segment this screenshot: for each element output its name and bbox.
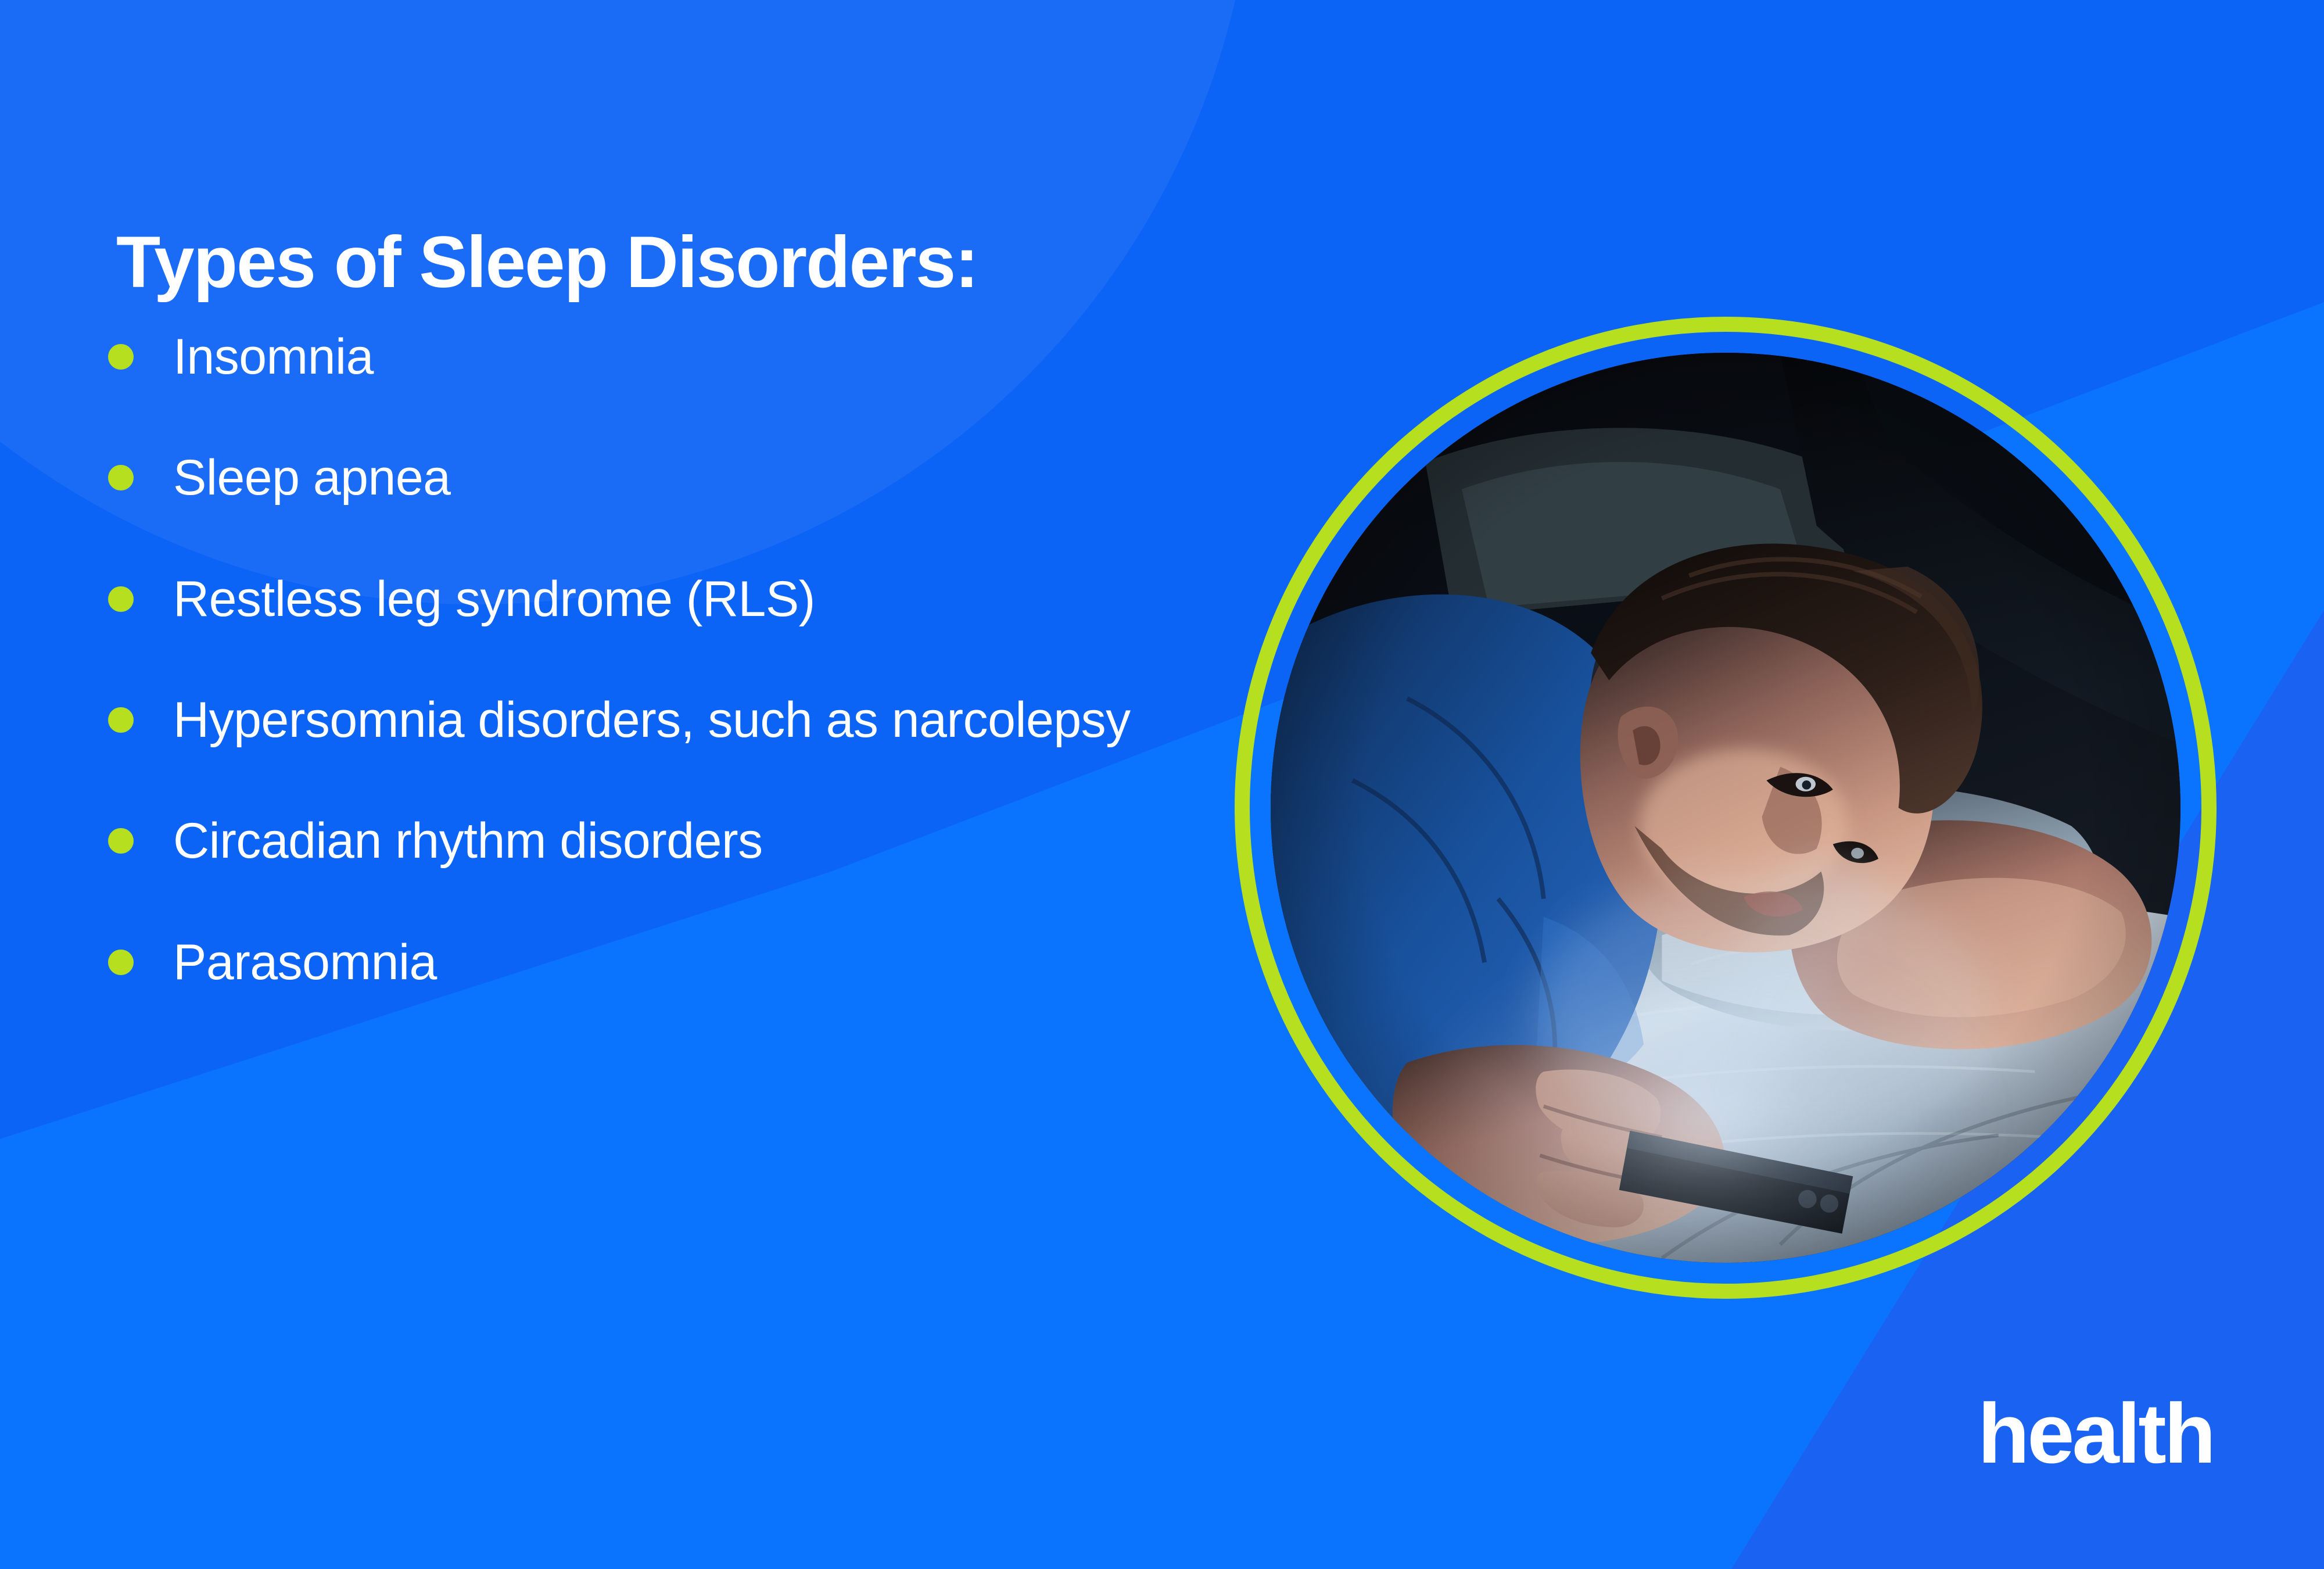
list-item: Parasomnia	[108, 931, 1241, 994]
list-item: Insomnia	[108, 325, 1241, 388]
bullet-dot-icon	[108, 707, 134, 733]
list-item: Restless leg syndrome (RLS)	[108, 568, 1241, 631]
list-item-label: Insomnia	[173, 325, 374, 388]
bullet-dot-icon	[108, 465, 134, 490]
list-item-label: Sleep apnea	[173, 446, 451, 509]
list-item-label: Parasomnia	[173, 931, 437, 994]
list-item-label: Hypersomnia disorders, such as narcoleps…	[173, 689, 1131, 751]
bullet-dot-icon	[108, 586, 134, 612]
list-item: Hypersomnia disorders, such as narcoleps…	[108, 689, 1241, 751]
sleep-photo-illustration	[1271, 353, 2180, 1263]
bullet-dot-icon	[108, 950, 134, 975]
bullet-dot-icon	[108, 344, 134, 370]
page-title: Types of Sleep Disorders:	[116, 223, 978, 302]
sleep-disorder-list: Insomnia Sleep apnea Restless leg syndro…	[108, 325, 1241, 1052]
circular-photo-badge	[1235, 317, 2217, 1299]
list-item: Sleep apnea	[108, 446, 1241, 509]
health-brand-logo: health	[1978, 1391, 2214, 1476]
bullet-dot-icon	[108, 828, 134, 854]
photo-frame	[1271, 353, 2180, 1263]
list-item-label: Restless leg syndrome (RLS)	[173, 568, 815, 631]
list-item-label: Circadian rhythm disorders	[173, 809, 763, 872]
list-item: Circadian rhythm disorders	[108, 809, 1241, 872]
